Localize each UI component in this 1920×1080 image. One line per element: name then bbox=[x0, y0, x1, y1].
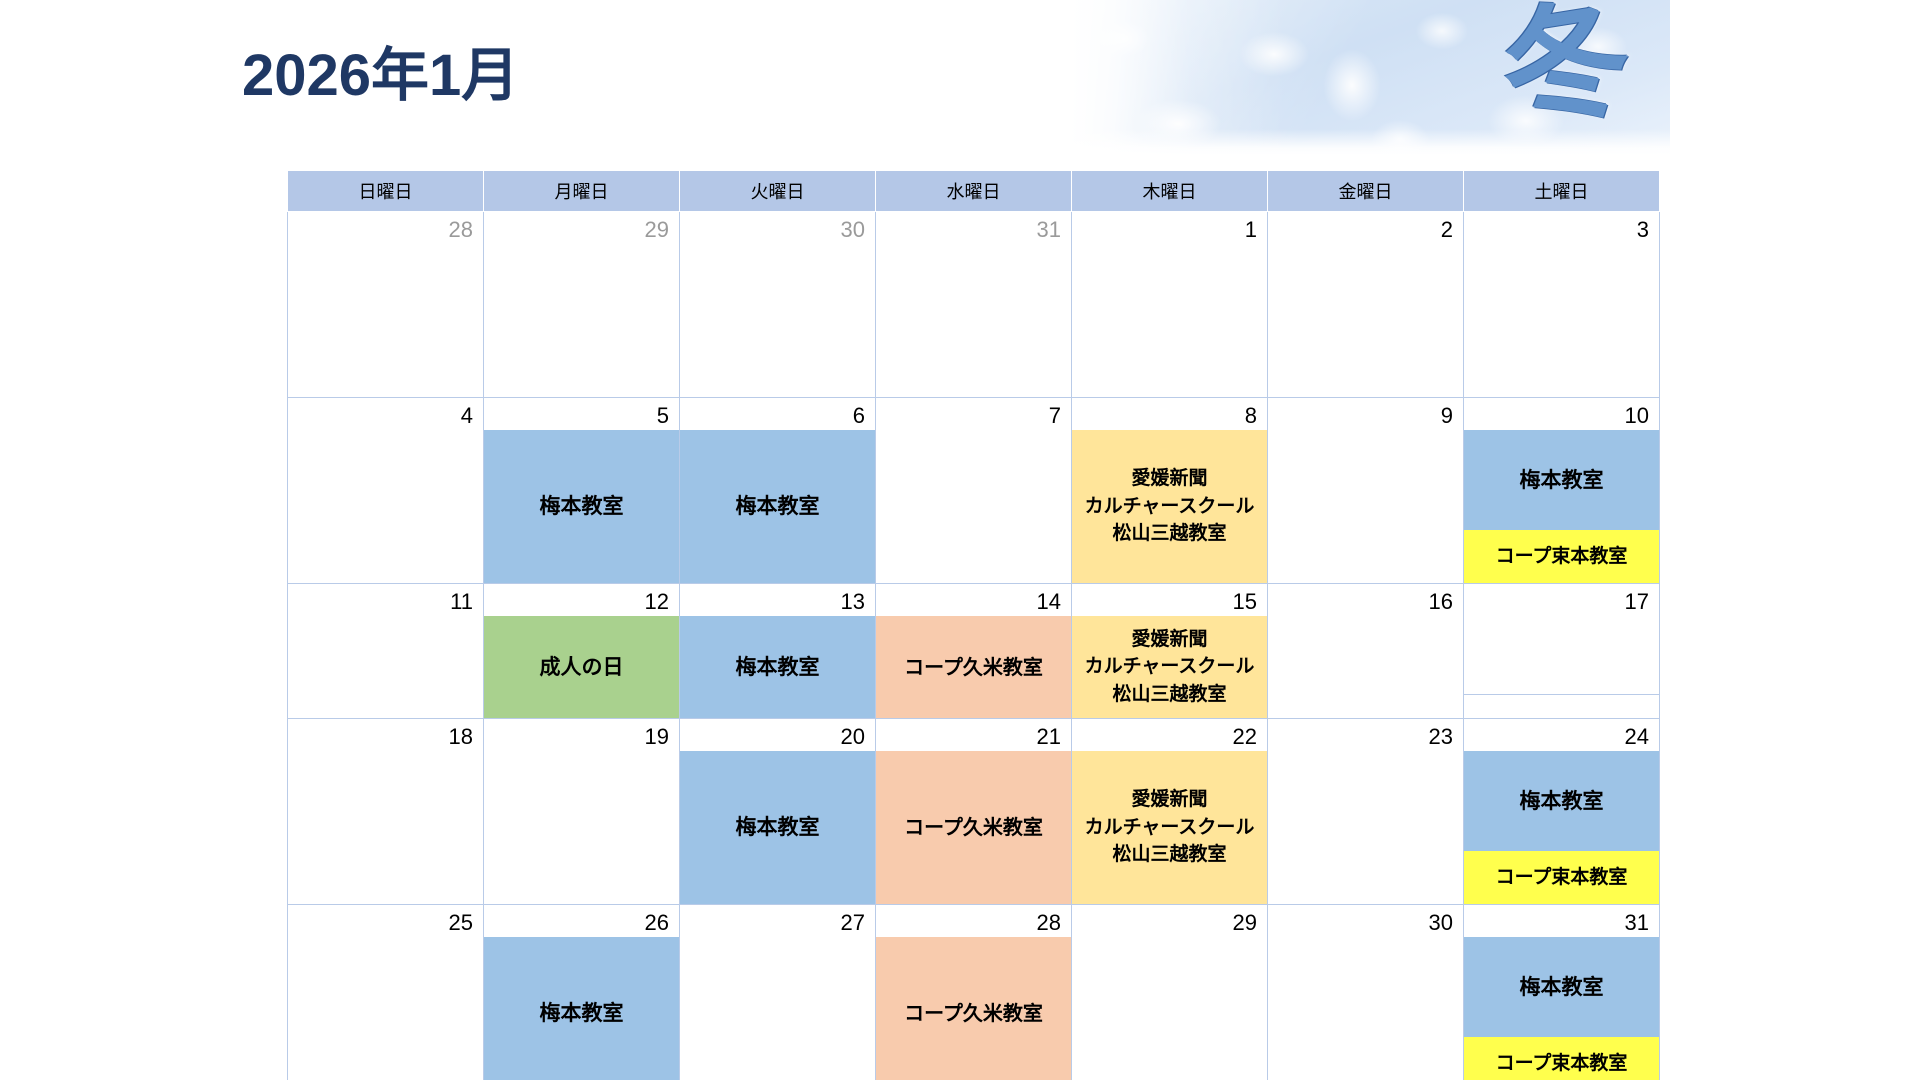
day-number: 16 bbox=[1268, 584, 1463, 616]
day-number: 31 bbox=[876, 212, 1071, 244]
calendar-day-cell[interactable]: 4 bbox=[288, 398, 484, 584]
event-label-line: カルチャースクール bbox=[1085, 814, 1255, 842]
calendar-grid: 日曜日 月曜日 火曜日 水曜日 木曜日 金曜日 土曜日 282930311234… bbox=[287, 170, 1660, 1080]
day-events bbox=[680, 244, 875, 397]
day-number: 10 bbox=[1464, 398, 1659, 430]
day-events: 成人の日 bbox=[484, 616, 679, 718]
day-events: 梅本教室コープ束本教室 bbox=[1464, 751, 1659, 904]
calendar-day-cell[interactable]: 17 bbox=[1464, 584, 1660, 719]
day-events bbox=[484, 244, 679, 397]
event-block[interactable]: 梅本教室 bbox=[1464, 751, 1659, 851]
day-events: 愛媛新聞カルチャースクール松山三越教室 bbox=[1072, 616, 1267, 718]
calendar-day-cell[interactable]: 19 bbox=[484, 719, 680, 905]
calendar-day-cell[interactable]: 15愛媛新聞カルチャースクール松山三越教室 bbox=[1072, 584, 1268, 719]
event-block[interactable]: 梅本教室 bbox=[1464, 937, 1659, 1037]
day-events bbox=[1268, 244, 1463, 397]
day-number: 21 bbox=[876, 719, 1071, 751]
day-events bbox=[288, 244, 483, 397]
event-label-line: 梅本教室 bbox=[1520, 786, 1604, 816]
event-label-line: 梅本教室 bbox=[736, 812, 820, 842]
event-label-line: 愛媛新聞 bbox=[1131, 786, 1207, 814]
calendar-week-row: 2526梅本教室2728コープ久米教室293031梅本教室コープ束本教室 bbox=[288, 905, 1660, 1080]
event-label-line: 松山三越教室 bbox=[1112, 841, 1226, 869]
day-events bbox=[1464, 616, 1659, 718]
day-number: 7 bbox=[876, 398, 1071, 430]
calendar-day-cell[interactable]: 5梅本教室 bbox=[484, 398, 680, 584]
calendar-day-cell[interactable]: 29 bbox=[484, 212, 680, 398]
day-events: コープ久米教室 bbox=[876, 937, 1071, 1080]
winter-banner-image: 冬 bbox=[1070, 0, 1670, 155]
event-block[interactable]: 梅本教室 bbox=[484, 937, 679, 1080]
event-block[interactable]: 梅本教室 bbox=[1464, 430, 1659, 530]
event-label-line: カルチャースクール bbox=[1085, 653, 1255, 681]
calendar-day-cell[interactable]: 12成人の日 bbox=[484, 584, 680, 719]
day-number: 19 bbox=[484, 719, 679, 751]
day-number: 27 bbox=[680, 905, 875, 937]
day-events: コープ久米教室 bbox=[876, 616, 1071, 718]
weekday-header-wednesday: 水曜日 bbox=[876, 171, 1072, 212]
calendar-week-row: 181920梅本教室21コープ久米教室22愛媛新聞カルチャースクール松山三越教室… bbox=[288, 719, 1660, 905]
event-label-line: 梅本教室 bbox=[540, 491, 624, 521]
day-number: 29 bbox=[484, 212, 679, 244]
day-number: 13 bbox=[680, 584, 875, 616]
day-number: 4 bbox=[288, 398, 483, 430]
event-block[interactable]: コープ久米教室 bbox=[876, 616, 1071, 718]
day-number: 22 bbox=[1072, 719, 1267, 751]
calendar-day-cell[interactable]: 28 bbox=[288, 212, 484, 398]
day-number: 30 bbox=[1268, 905, 1463, 937]
day-number: 12 bbox=[484, 584, 679, 616]
event-label-line: コープ束本教室 bbox=[1496, 864, 1628, 892]
day-number: 23 bbox=[1268, 719, 1463, 751]
event-block[interactable]: 成人の日 bbox=[484, 616, 679, 718]
calendar-day-cell[interactable]: 6梅本教室 bbox=[680, 398, 876, 584]
day-number: 28 bbox=[288, 212, 483, 244]
day-events bbox=[288, 430, 483, 583]
day-events bbox=[288, 751, 483, 904]
day-events: 梅本教室 bbox=[484, 430, 679, 583]
day-events bbox=[1268, 751, 1463, 904]
day-events bbox=[876, 244, 1071, 397]
event-label-line: 愛媛新聞 bbox=[1131, 465, 1207, 493]
event-label-line: 梅本教室 bbox=[1520, 465, 1604, 495]
calendar-day-cell[interactable]: 10梅本教室コープ束本教室 bbox=[1464, 398, 1660, 584]
weekday-header-saturday: 土曜日 bbox=[1464, 171, 1660, 212]
calendar-week-row: 28293031123 bbox=[288, 212, 1660, 398]
day-events bbox=[876, 430, 1071, 583]
calendar-day-cell[interactable]: 27 bbox=[680, 905, 876, 1080]
day-events bbox=[288, 616, 483, 718]
calendar-day-cell[interactable]: 21コープ久米教室 bbox=[876, 719, 1072, 905]
event-label-line: 梅本教室 bbox=[736, 652, 820, 682]
day-events bbox=[288, 937, 483, 1080]
event-label-line: 梅本教室 bbox=[540, 998, 624, 1028]
event-label-line: コープ久米教室 bbox=[904, 813, 1043, 842]
day-events: 愛媛新聞カルチャースクール松山三越教室 bbox=[1072, 430, 1267, 583]
weekday-header-friday: 金曜日 bbox=[1268, 171, 1464, 212]
day-events bbox=[1268, 430, 1463, 583]
page-title: 2026年1月 bbox=[242, 28, 519, 112]
day-events bbox=[484, 751, 679, 904]
event-block[interactable]: 愛媛新聞カルチャースクール松山三越教室 bbox=[1072, 616, 1267, 718]
calendar-day-cell[interactable]: 30 bbox=[680, 212, 876, 398]
event-label-line: 松山三越教室 bbox=[1112, 520, 1226, 548]
day-events bbox=[1072, 244, 1267, 397]
event-label-line: 成人の日 bbox=[540, 652, 624, 682]
calendar-day-cell[interactable]: 26梅本教室 bbox=[484, 905, 680, 1080]
event-label-line: コープ束本教室 bbox=[1496, 1050, 1628, 1078]
calendar-day-cell[interactable]: 7 bbox=[876, 398, 1072, 584]
calendar-day-cell[interactable]: 23 bbox=[1268, 719, 1464, 905]
day-events bbox=[1268, 937, 1463, 1080]
calendar-week-row: 45梅本教室6梅本教室78愛媛新聞カルチャースクール松山三越教室910梅本教室コ… bbox=[288, 398, 1660, 584]
calendar-day-cell[interactable]: 31梅本教室コープ束本教室 bbox=[1464, 905, 1660, 1080]
event-block[interactable]: 梅本教室 bbox=[680, 616, 875, 718]
event-block[interactable]: 愛媛新聞カルチャースクール松山三越教室 bbox=[1072, 430, 1267, 583]
day-number: 25 bbox=[288, 905, 483, 937]
event-label-line: 愛媛新聞 bbox=[1131, 626, 1207, 654]
day-number: 1 bbox=[1072, 212, 1267, 244]
day-number: 14 bbox=[876, 584, 1071, 616]
winter-kanji-icon: 冬 bbox=[1493, 0, 1639, 139]
calendar-day-cell[interactable]: 9 bbox=[1268, 398, 1464, 584]
event-block[interactable]: 愛媛新聞カルチャースクール松山三越教室 bbox=[1072, 751, 1267, 904]
weekday-header-tuesday: 火曜日 bbox=[680, 171, 876, 212]
day-number: 8 bbox=[1072, 398, 1267, 430]
day-events bbox=[680, 937, 875, 1080]
event-label-line: カルチャースクール bbox=[1085, 493, 1255, 521]
calendar-day-cell[interactable]: 29 bbox=[1072, 905, 1268, 1080]
day-events: 梅本教室 bbox=[680, 616, 875, 718]
event-slot-empty bbox=[1464, 694, 1659, 718]
event-block[interactable]: コープ久米教室 bbox=[876, 751, 1071, 904]
day-number: 6 bbox=[680, 398, 875, 430]
event-block[interactable]: コープ束本教室 bbox=[1464, 851, 1659, 904]
calendar-page: 冬 2026年1月 日曜日 月曜日 火曜日 水曜日 木曜日 金曜日 土曜日 28… bbox=[0, 0, 1920, 1080]
calendar-day-cell[interactable]: 30 bbox=[1268, 905, 1464, 1080]
event-label-line: コープ久米教室 bbox=[904, 999, 1043, 1028]
calendar-day-cell[interactable]: 28コープ久米教室 bbox=[876, 905, 1072, 1080]
calendar-day-cell[interactable]: 16 bbox=[1268, 584, 1464, 719]
day-number: 9 bbox=[1268, 398, 1463, 430]
calendar-day-cell[interactable]: 31 bbox=[876, 212, 1072, 398]
calendar-day-cell[interactable]: 13梅本教室 bbox=[680, 584, 876, 719]
event-label-line: 梅本教室 bbox=[736, 491, 820, 521]
day-number: 5 bbox=[484, 398, 679, 430]
weekday-header-monday: 月曜日 bbox=[484, 171, 680, 212]
event-label-line: コープ束本教室 bbox=[1496, 543, 1628, 571]
calendar-day-cell[interactable]: 14コープ久米教室 bbox=[876, 584, 1072, 719]
calendar-day-cell[interactable]: 20梅本教室 bbox=[680, 719, 876, 905]
weekday-header-row: 日曜日 月曜日 火曜日 水曜日 木曜日 金曜日 土曜日 bbox=[288, 171, 1660, 212]
day-number: 3 bbox=[1464, 212, 1659, 244]
calendar-day-cell[interactable]: 25 bbox=[288, 905, 484, 1080]
event-block[interactable]: 梅本教室 bbox=[680, 430, 875, 583]
calendar-day-cell[interactable]: 11 bbox=[288, 584, 484, 719]
calendar-day-cell[interactable]: 24梅本教室コープ束本教室 bbox=[1464, 719, 1660, 905]
day-number: 2 bbox=[1268, 212, 1463, 244]
event-block[interactable]: コープ束本教室 bbox=[1464, 1037, 1659, 1080]
event-block[interactable]: 梅本教室 bbox=[680, 751, 875, 904]
day-events: 愛媛新聞カルチャースクール松山三越教室 bbox=[1072, 751, 1267, 904]
day-number: 17 bbox=[1464, 584, 1659, 616]
event-label-line: 松山三越教室 bbox=[1112, 681, 1226, 709]
event-block[interactable]: コープ久米教室 bbox=[876, 937, 1071, 1080]
weekday-header-thursday: 木曜日 bbox=[1072, 171, 1268, 212]
day-events: 梅本教室 bbox=[484, 937, 679, 1080]
event-block[interactable]: 梅本教室 bbox=[484, 430, 679, 583]
day-number: 28 bbox=[876, 905, 1071, 937]
day-events bbox=[1464, 244, 1659, 397]
calendar-body: 2829303112345梅本教室6梅本教室78愛媛新聞カルチャースクール松山三… bbox=[288, 212, 1660, 1080]
day-events: 梅本教室 bbox=[680, 751, 875, 904]
calendar-week-row: 1112成人の日13梅本教室14コープ久米教室15愛媛新聞カルチャースクール松山… bbox=[288, 584, 1660, 719]
event-label-line: 梅本教室 bbox=[1520, 972, 1604, 1002]
day-events: コープ久米教室 bbox=[876, 751, 1071, 904]
day-events: 梅本教室コープ束本教室 bbox=[1464, 430, 1659, 583]
day-number: 18 bbox=[288, 719, 483, 751]
calendar-day-cell[interactable]: 22愛媛新聞カルチャースクール松山三越教室 bbox=[1072, 719, 1268, 905]
day-number: 24 bbox=[1464, 719, 1659, 751]
day-number: 30 bbox=[680, 212, 875, 244]
calendar-day-cell[interactable]: 8愛媛新聞カルチャースクール松山三越教室 bbox=[1072, 398, 1268, 584]
day-number: 26 bbox=[484, 905, 679, 937]
day-events: 梅本教室コープ束本教室 bbox=[1464, 937, 1659, 1080]
day-number: 11 bbox=[288, 584, 483, 616]
day-events: 梅本教室 bbox=[680, 430, 875, 583]
day-number: 15 bbox=[1072, 584, 1267, 616]
calendar-day-cell[interactable]: 18 bbox=[288, 719, 484, 905]
day-number: 29 bbox=[1072, 905, 1267, 937]
calendar-day-cell[interactable]: 3 bbox=[1464, 212, 1660, 398]
day-events bbox=[1268, 616, 1463, 718]
calendar-day-cell[interactable]: 2 bbox=[1268, 212, 1464, 398]
day-number: 20 bbox=[680, 719, 875, 751]
event-slot-empty bbox=[1464, 616, 1659, 694]
calendar-day-cell[interactable]: 1 bbox=[1072, 212, 1268, 398]
weekday-header-sunday: 日曜日 bbox=[288, 171, 484, 212]
day-events bbox=[1072, 937, 1267, 1080]
day-number: 31 bbox=[1464, 905, 1659, 937]
event-label-line: コープ久米教室 bbox=[904, 653, 1043, 682]
event-block[interactable]: コープ束本教室 bbox=[1464, 530, 1659, 583]
